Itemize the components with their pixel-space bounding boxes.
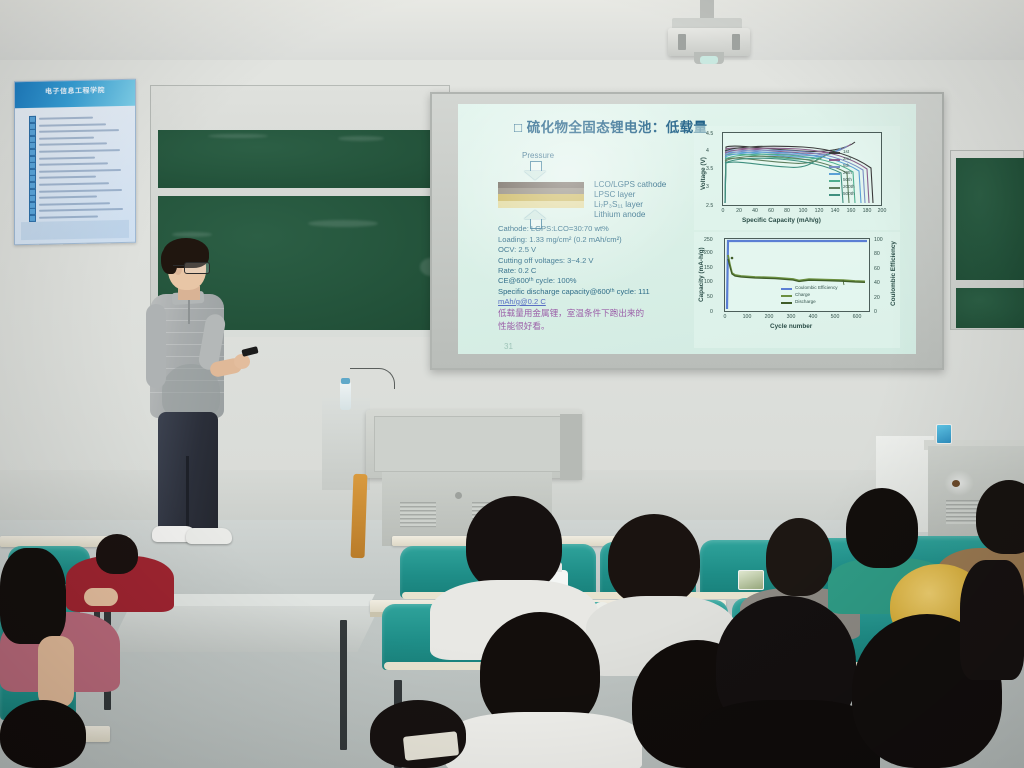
presenter-eyeglasses	[184, 262, 210, 274]
legend-1st: 1st	[843, 149, 849, 154]
student-teal-shirt-head	[846, 488, 918, 568]
legend-discharge: Discharge	[795, 299, 816, 304]
poster-text-line	[39, 208, 123, 212]
layer-label-li7p3s11: Li₇P₃S₁₁ layer	[594, 200, 643, 209]
lectern-front-panel	[374, 416, 564, 472]
param-ocv: OCV: 2.5 V	[498, 245, 622, 256]
gooseneck-microphone	[350, 368, 395, 389]
poster-text-line	[39, 117, 93, 120]
param-loading: Loading: 1.33 mg/cm² (0.2 mAh/cm²)	[498, 235, 622, 246]
projection-screen: □ 硫化物全固态锂电池：低载量 Pressure LCO/LGPS cathod…	[430, 92, 944, 370]
chart1-xtick-80: 80	[784, 208, 790, 214]
chart2-ytick-0: 0	[710, 309, 713, 315]
chart1-curves	[723, 133, 881, 205]
slide-chinese-note: 低载量用金属锂，室温条件下跑出来的 性能很好看。	[498, 307, 644, 332]
chart1-xtick-40: 40	[752, 208, 758, 214]
chart2-y2tick-40: 40	[874, 280, 880, 286]
poster-text-line	[39, 202, 110, 205]
student-floral-hair	[0, 548, 66, 644]
student-red-shirt-arm	[84, 588, 118, 606]
chart2-ytick-200: 200	[704, 250, 713, 256]
student-head-front-g	[960, 560, 1024, 680]
poster-text-line	[39, 169, 121, 173]
chart1-xtick-120: 120	[815, 208, 824, 214]
blackboard-right-upper	[956, 158, 1024, 280]
chart2-y2tick-100: 100	[874, 237, 883, 243]
student-grey-shirt-head	[766, 518, 832, 596]
chart2-y2label: Coulombic Efficiency	[890, 241, 897, 306]
lecture-hall-photo: 电子信息工程学院 □ 硫化物全固态锂电池：低载量 Pressure	[0, 0, 1024, 768]
chart2-y2tick-0: 0	[874, 309, 877, 315]
legend-500th: 500th	[843, 191, 855, 196]
param-rate: Rate: 0.2 C	[498, 266, 622, 277]
poster-text-line	[39, 176, 96, 179]
chart2-xtick-200: 200	[765, 314, 774, 320]
chart1-xtick-0: 0	[722, 208, 725, 214]
chart1-ytick-2.5: 2.5	[706, 203, 713, 209]
layer-label-lpsc: LPSC layer	[594, 190, 635, 199]
chart1-xtick-20: 20	[736, 208, 742, 214]
pressure-label: Pressure	[522, 151, 554, 160]
chart2-ytick-100: 100	[704, 279, 713, 285]
lectern-side	[560, 414, 582, 480]
cabinet-mark	[952, 480, 960, 487]
chart1-ylabel: Voltage (V)	[700, 157, 707, 190]
water-bottle-lectern	[340, 382, 351, 410]
poster-text-line	[39, 196, 97, 199]
poster-text-line	[39, 189, 122, 193]
chart1-ytick-4.0: 4	[706, 148, 709, 154]
presenter-arm-left	[146, 304, 166, 388]
presenter	[146, 236, 266, 616]
perf-units: mAh/g@0.2 C	[498, 297, 650, 308]
chart1-xtick-200: 200	[878, 208, 887, 214]
chart-voltage-capacity: 1st 2nd 5th 20th 50th 200th 500th 2.5 3 …	[694, 126, 900, 230]
chart2-xtick-100: 100	[743, 314, 752, 320]
chart1-xtick-100: 100	[799, 208, 808, 214]
poster-footer	[21, 220, 129, 240]
chart2-ytick-150: 150	[704, 265, 713, 271]
param-cutoff: Cutting off voltages: 3~4.2 V	[498, 256, 622, 267]
cabinet-vent	[946, 500, 980, 524]
chart1-xlabel: Specific Capacity (mAh/g)	[742, 217, 821, 224]
note-line-1: 低载量用金属锂，室温条件下跑出来的	[498, 307, 644, 320]
perf-ce: CE@600ᵗʰ cycle: 100%	[498, 276, 650, 287]
chart1-xtick-180: 180	[863, 208, 872, 214]
presenter-placket	[188, 298, 190, 324]
desk-leg-center	[340, 620, 347, 750]
chart2-xtick-500: 500	[831, 314, 840, 320]
note-line-2: 性能很好看。	[498, 320, 644, 333]
cell-stack-diagram	[498, 182, 584, 208]
legend-2nd: 2nd	[843, 156, 851, 161]
legend-5th: 5th	[843, 163, 849, 168]
perf-capacity: Specific discharge capacity@600ᵗʰ cycle:…	[498, 287, 650, 298]
param-cathode: Cathode: LGPS:LCO=30:70 wt%	[498, 224, 622, 235]
chart2-ytick-50: 50	[707, 294, 713, 300]
chart2-y2tick-60: 60	[874, 266, 880, 272]
smartphone-on-cabinet	[936, 424, 952, 444]
eyeglasses-temple	[173, 265, 185, 266]
poster-text-line	[39, 156, 95, 159]
layer-label-anode: Lithium anode	[594, 210, 645, 219]
chart-cycling-stability: Coulombic Efficiency Charge Discharge 0 …	[694, 232, 900, 348]
wall-poster: 电子信息工程学院	[14, 79, 136, 246]
water-bottle-cap	[341, 378, 350, 384]
poster-bullet	[29, 215, 36, 222]
poster-text-line	[39, 123, 106, 126]
chart2-xtick-300: 300	[787, 314, 796, 320]
legend-50th: 50th	[843, 177, 852, 182]
projector-light	[700, 56, 718, 64]
chart1-xtick-60: 60	[768, 208, 774, 214]
chart2-xtick-0: 0	[724, 314, 727, 320]
student-head-front-b	[608, 514, 700, 606]
chart1-xtick-160: 160	[847, 208, 856, 214]
student-red-shirt-head	[96, 534, 138, 574]
student-floral-arm	[38, 636, 74, 708]
presentation-slide: □ 硫化物全固态锂电池：低载量 Pressure LCO/LGPS cathod…	[458, 104, 916, 354]
chart2-y2tick-80: 80	[874, 251, 880, 257]
blackboard-left-upper	[158, 130, 443, 188]
layer-li7p3s11	[498, 194, 584, 201]
legend-coulombic-efficiency: Coulombic Efficiency	[795, 285, 838, 290]
slide-parameters: Cathode: LGPS:LCO=30:70 wt% Loading: 1.3…	[498, 224, 622, 277]
student-body-front-c	[446, 712, 642, 768]
presenter-hand	[234, 354, 250, 369]
presenter-hair-side	[161, 248, 177, 274]
chart1-ytick-3.5: 3.5	[706, 166, 713, 172]
poster-text-line	[39, 216, 98, 219]
presenter-shoe-right	[186, 528, 232, 544]
blackboard-right-main	[956, 288, 1024, 328]
slide-number: 31	[504, 342, 513, 351]
lectern-vent-left	[400, 502, 436, 528]
student-front-left-head	[0, 700, 86, 768]
trouser-seam	[186, 456, 189, 532]
chart2-xtick-600: 600	[853, 314, 862, 320]
chart2-plot-area: Coulombic Efficiency Charge Discharge	[724, 238, 870, 312]
layer-lithium-anode	[498, 201, 584, 208]
legend-200th: 200th	[843, 184, 855, 189]
layer-label-cathode: LCO/LGPS cathode	[594, 180, 666, 189]
wooden-chair-back	[351, 474, 368, 558]
chart2-y2tick-20: 20	[874, 295, 880, 301]
chart2-ylabel: Capacity (mA-h/g)	[698, 247, 705, 302]
presentation-clicker	[241, 346, 258, 357]
poster-text-line	[39, 162, 108, 165]
legend-20th: 20th	[843, 170, 852, 175]
chart2-xtick-400: 400	[809, 314, 818, 320]
poster-text-line	[39, 182, 109, 185]
smartphone-student	[738, 570, 764, 590]
poster-text-line	[39, 149, 120, 153]
chart1-xtick-140: 140	[831, 208, 840, 214]
chart2-xlabel: Cycle number	[770, 323, 812, 330]
poster-text-line	[39, 143, 107, 146]
poster-text-line	[39, 136, 94, 139]
slide-performance: CE@600ᵗʰ cycle: 100% Specific discharge …	[498, 276, 650, 308]
lectern-lock	[455, 492, 462, 499]
slide-title: □ 硫化物全固态锂电池：低载量	[514, 116, 707, 136]
chart2-ytick-250: 250	[704, 237, 713, 243]
poster-text-line	[39, 129, 119, 133]
legend-charge: Charge	[795, 292, 810, 297]
chart1-ytick-4.5: 4.5	[706, 131, 713, 137]
chart1-plot-area: 1st 2nd 5th 20th 50th 200th 500th	[722, 132, 882, 206]
student-head-front-a	[466, 496, 562, 592]
